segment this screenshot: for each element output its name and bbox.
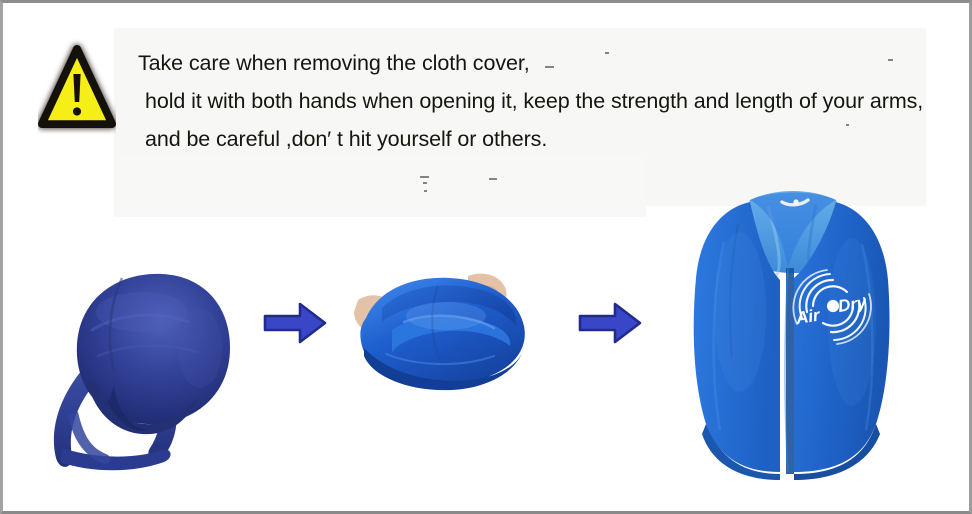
warning-line-3: and be careful ,don′ t hit yourself or o… bbox=[138, 120, 918, 158]
svg-text:Air: Air bbox=[794, 305, 823, 328]
photo-assembled-dryer: Air Dry bbox=[676, 172, 908, 484]
photo-storage-bag bbox=[22, 252, 240, 480]
scan-artifact bbox=[420, 176, 429, 178]
scan-artifact bbox=[888, 59, 893, 61]
step-arrow-2 bbox=[577, 300, 643, 346]
warning-triangle-icon bbox=[38, 38, 116, 134]
scan-artifact bbox=[424, 190, 427, 192]
scan-artifact bbox=[545, 66, 554, 68]
warning-line-1: Take care when removing the cloth cover, bbox=[138, 44, 918, 82]
instruction-sheet: Take care when removing the cloth cover,… bbox=[0, 0, 972, 514]
scan-artifact bbox=[846, 124, 849, 126]
scan-artifact bbox=[423, 182, 427, 184]
warning-text-block: Take care when removing the cloth cover,… bbox=[138, 44, 918, 158]
warning-line-2: hold it with both hands when opening it,… bbox=[138, 82, 918, 120]
photo-unfolding-cloth bbox=[342, 256, 538, 396]
scan-artifact bbox=[605, 52, 609, 54]
notice-background-panel-lower bbox=[114, 155, 646, 217]
step-arrow-1 bbox=[262, 300, 328, 346]
scan-artifact bbox=[489, 178, 497, 180]
